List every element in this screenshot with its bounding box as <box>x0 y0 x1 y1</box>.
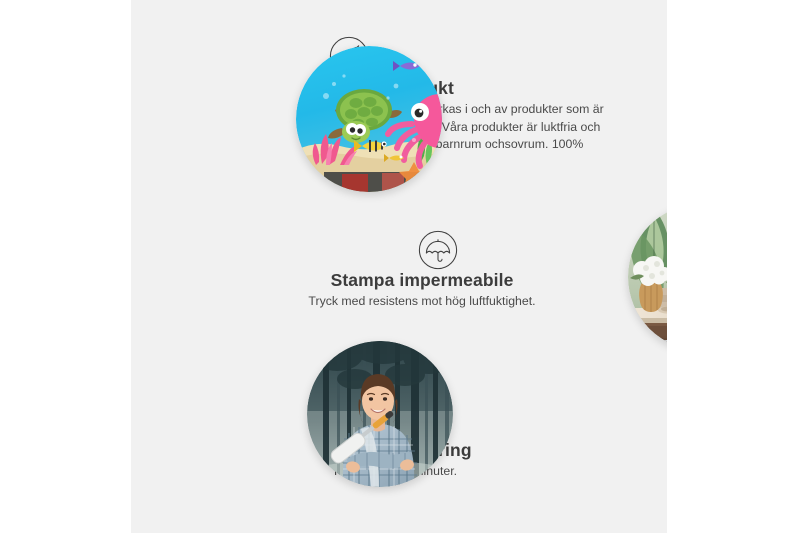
feature-title-waterproof: Stampa impermeabile <box>169 270 667 291</box>
feature-panel: Luktfri produkt Alla våra tavlor tillver… <box>131 0 667 533</box>
woman-with-paint-roller-photo <box>307 341 453 487</box>
underwater-cartoon-wallpaper-photo <box>296 46 442 192</box>
feature-body-waterproof: Tryck med resistens mot hög luftfuktighe… <box>169 293 667 311</box>
umbrella-icon <box>418 230 458 270</box>
bathroom-tropical-wallpaper-photo <box>628 204 667 350</box>
product-feature-infographic: Luktfri produkt Alla våra tavlor tillver… <box>0 0 800 533</box>
